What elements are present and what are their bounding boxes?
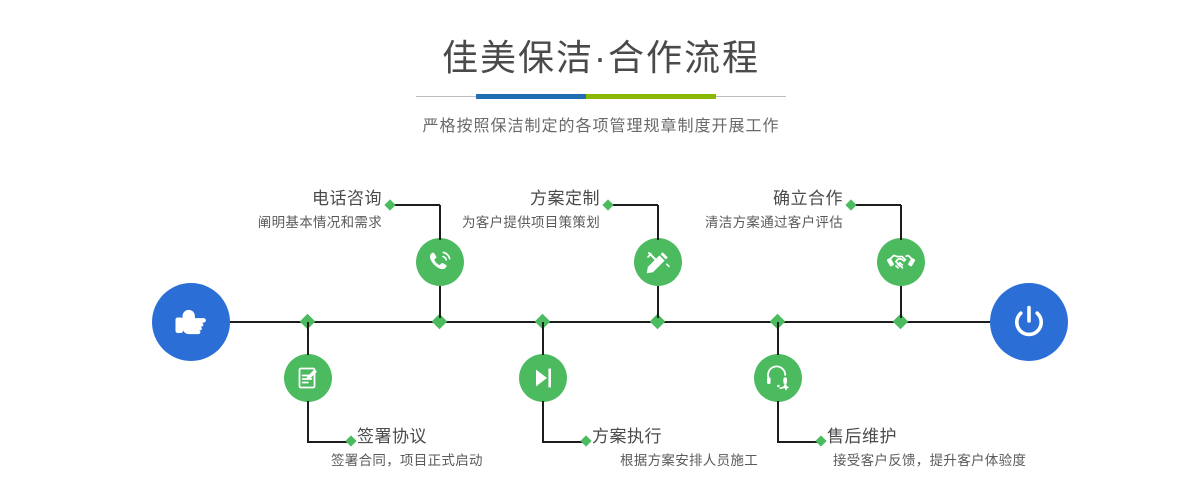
step-stem-6-upper bbox=[777, 322, 779, 355]
step-tip-diamond-6 bbox=[815, 435, 826, 446]
step-tip-diamond-3 bbox=[602, 199, 613, 210]
timeline-start-node[interactable] bbox=[152, 283, 230, 361]
step-node-2[interactable] bbox=[284, 354, 332, 402]
play-skip-icon bbox=[529, 364, 557, 392]
step-title-6: 售后维护 bbox=[827, 426, 1026, 448]
step-stem-5 bbox=[900, 205, 902, 240]
step-stem-2-upper bbox=[307, 322, 309, 355]
handshake-icon bbox=[887, 248, 915, 276]
step-title-4: 方案执行 bbox=[592, 426, 758, 448]
timeline-axis bbox=[160, 321, 1042, 323]
cooperation-process-infographic: 佳美保洁·合作流程 严格按照保洁制定的各项管理规章制度开展工作 bbox=[0, 0, 1202, 502]
process-timeline: 电话咨询 阐明基本情况和需求 签署协议 签署合同，项目正式启动 bbox=[0, 0, 1202, 502]
step-stem-2 bbox=[307, 401, 309, 442]
step-label-4: 方案执行 根据方案安排人员施工 bbox=[592, 426, 758, 471]
step-stem-3-lower bbox=[657, 286, 659, 318]
step-label-1: 电话咨询 阐明基本情况和需求 bbox=[150, 188, 382, 233]
step-node-5[interactable] bbox=[877, 238, 925, 286]
step-desc-4: 根据方案安排人员施工 bbox=[620, 448, 758, 471]
power-icon bbox=[1007, 300, 1051, 344]
step-stem-4 bbox=[542, 401, 544, 442]
step-tip-diamond-2 bbox=[345, 435, 356, 446]
step-tip-diamond-5 bbox=[845, 199, 856, 210]
step-label-5: 确立合作 清洁方案通过客户评估 bbox=[613, 188, 843, 233]
step-node-1[interactable] bbox=[416, 238, 464, 286]
headset-support-icon bbox=[764, 364, 792, 392]
thumbs-up-icon bbox=[169, 300, 213, 344]
step-label-3: 方案定制 为客户提供项目策策划 bbox=[370, 188, 600, 233]
step-stem-4-upper bbox=[542, 322, 544, 355]
document-edit-icon bbox=[294, 364, 322, 392]
step-label-6: 售后维护 接受客户反馈，提升客户体验度 bbox=[827, 426, 1026, 471]
step-tip-diamond-4 bbox=[580, 435, 591, 446]
step-title-2: 签署协议 bbox=[357, 426, 483, 448]
step-desc-1: 阐明基本情况和需求 bbox=[150, 210, 382, 233]
step-node-6[interactable] bbox=[754, 354, 802, 402]
timeline-end-node[interactable] bbox=[990, 283, 1068, 361]
step-stem-1-lower bbox=[439, 286, 441, 318]
step-title-5: 确立合作 bbox=[613, 188, 843, 210]
step-title-3: 方案定制 bbox=[370, 188, 600, 210]
step-desc-5: 清洁方案通过客户评估 bbox=[613, 210, 843, 233]
step-label-2: 签署协议 签署合同，项目正式启动 bbox=[357, 426, 483, 471]
step-stem-6 bbox=[777, 401, 779, 442]
step-title-1: 电话咨询 bbox=[150, 188, 382, 210]
phone-call-icon bbox=[426, 248, 454, 276]
step-desc-6: 接受客户反馈，提升客户体验度 bbox=[833, 448, 1026, 471]
step-desc-3: 为客户提供项目策策划 bbox=[370, 210, 600, 233]
step-node-3[interactable] bbox=[634, 238, 682, 286]
step-node-4[interactable] bbox=[519, 354, 567, 402]
step-desc-2: 签署合同，项目正式启动 bbox=[331, 448, 483, 471]
step-elbow-5 bbox=[851, 204, 901, 206]
step-stem-5-lower bbox=[900, 286, 902, 318]
pencil-ruler-icon bbox=[644, 248, 672, 276]
